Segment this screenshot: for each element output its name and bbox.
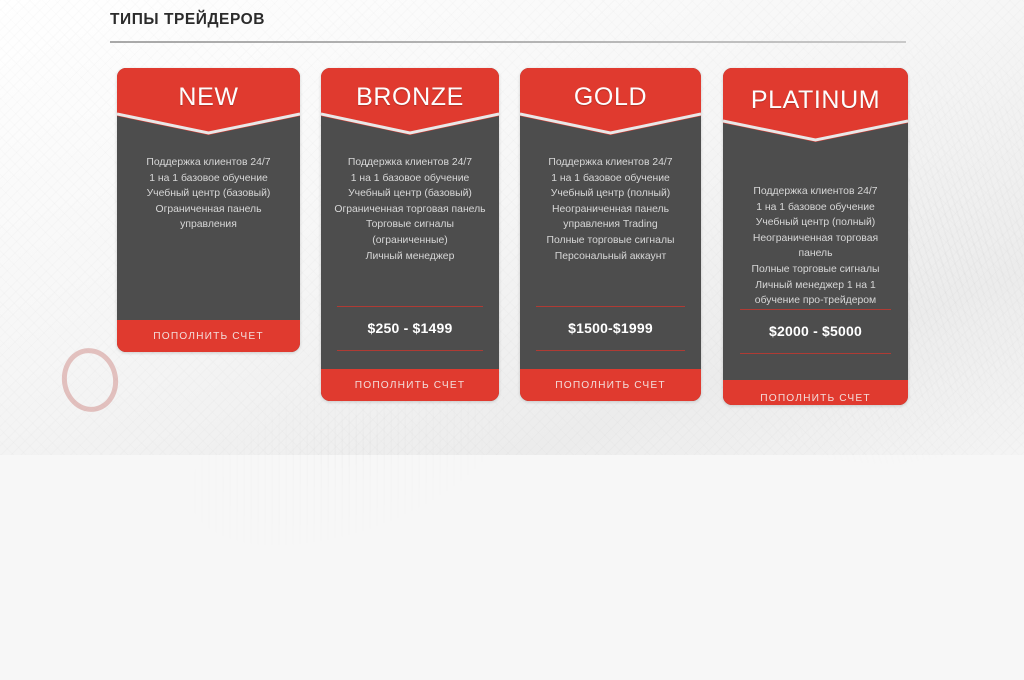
- feature-item: Поддержка клиентов 24/7: [321, 155, 499, 171]
- feature-item: управления Trading: [520, 217, 701, 233]
- price-rule-bottom: [536, 350, 684, 351]
- feature-list: Поддержка клиентов 24/71 на 1 базовое об…: [520, 155, 701, 264]
- card-title: GOLD: [574, 85, 647, 110]
- topup-account-button[interactable]: ПОПОЛНИТЬ СЧЕТ: [520, 369, 701, 401]
- feature-item: Торговые сигналы: [321, 217, 499, 233]
- topup-account-button[interactable]: ПОПОЛНИТЬ СЧЕТ: [723, 380, 908, 405]
- card-header-gold: GOLD: [520, 68, 701, 135]
- card-header-bronze: BRONZE: [321, 68, 499, 135]
- feature-item: Учебный центр (полный): [723, 215, 908, 231]
- feature-list: Поддержка клиентов 24/71 на 1 базовое об…: [321, 155, 499, 264]
- card-body-gold: Поддержка клиентов 24/71 на 1 базовое об…: [520, 135, 701, 369]
- card-title: BRONZE: [356, 85, 464, 110]
- feature-item: Неограниченная торговая: [723, 231, 908, 247]
- price-rule-top: [337, 306, 483, 307]
- feature-list: Поддержка клиентов 24/71 на 1 базовое об…: [723, 184, 908, 309]
- feature-item: 1 на 1 базовое обучение: [520, 171, 701, 187]
- title-divider: [110, 41, 906, 43]
- feature-item: Полные торговые сигналы: [723, 262, 908, 278]
- card-header-platinum: PLATINUM: [723, 68, 908, 142]
- feature-item: Учебный центр (базовый): [117, 186, 300, 202]
- feature-item: (ограниченные): [321, 233, 499, 249]
- page-header: ТИПЫ ТРЕЙДЕРОВ: [110, 10, 906, 43]
- card-body-new: Поддержка клиентов 24/71 на 1 базовое об…: [117, 135, 300, 320]
- feature-item: управления: [117, 217, 300, 233]
- price-rule-bottom: [740, 353, 892, 354]
- feature-item: 1 на 1 базовое обучение: [723, 200, 908, 216]
- card-header-new: NEW: [117, 68, 300, 135]
- price-value: $1500-$1999: [568, 307, 653, 350]
- feature-item: Поддержка клиентов 24/7: [117, 155, 300, 171]
- feature-item: Ограниченная панель: [117, 202, 300, 218]
- topup-account-button[interactable]: ПОПОЛНИТЬ СЧЕТ: [321, 369, 499, 401]
- price-rule-top: [536, 306, 684, 307]
- page-title: ТИПЫ ТРЕЙДЕРОВ: [110, 10, 906, 30]
- feature-item: Личный менеджер: [321, 249, 499, 265]
- price-rule-bottom: [337, 350, 483, 351]
- feature-item: Полные торговые сигналы: [520, 233, 701, 249]
- feature-list: Поддержка клиентов 24/71 на 1 базовое об…: [117, 155, 300, 233]
- feature-item: Персональный аккаунт: [520, 249, 701, 265]
- card-body-platinum: Поддержка клиентов 24/71 на 1 базовое об…: [723, 142, 908, 380]
- feature-item: Учебный центр (полный): [520, 186, 701, 202]
- card-title: NEW: [178, 85, 238, 110]
- price-block: $1500-$1999: [520, 306, 701, 351]
- chevron-notch-icon: [723, 116, 908, 142]
- feature-item: обучение про-трейдером: [723, 293, 908, 309]
- chevron-notch-icon: [117, 109, 300, 135]
- feature-item: панель: [723, 246, 908, 262]
- pricing-card-bronze[interactable]: BRONZEПоддержка клиентов 24/71 на 1 базо…: [321, 68, 499, 401]
- card-title: PLATINUM: [751, 88, 880, 113]
- pricing-card-gold[interactable]: GOLDПоддержка клиентов 24/71 на 1 базово…: [520, 68, 701, 401]
- feature-item: 1 на 1 базовое обучение: [321, 171, 499, 187]
- feature-item: Неограниченная панель: [520, 202, 701, 218]
- feature-item: Поддержка клиентов 24/7: [723, 184, 908, 200]
- feature-item: Ограниченная торговая панель: [321, 202, 499, 218]
- price-value: $2000 - $5000: [769, 310, 862, 353]
- feature-item: Поддержка клиентов 24/7: [520, 155, 701, 171]
- chevron-notch-icon: [321, 109, 499, 135]
- pricing-cards-container: NEWПоддержка клиентов 24/71 на 1 базовое…: [0, 0, 1024, 455]
- price-block: $250 - $1499: [321, 306, 499, 351]
- chevron-notch-icon: [520, 109, 701, 135]
- price-block: $2000 - $5000: [723, 309, 908, 354]
- feature-item: 1 на 1 базовое обучение: [117, 171, 300, 187]
- topup-account-button[interactable]: ПОПОЛНИТЬ СЧЕТ: [117, 320, 300, 352]
- feature-item: Учебный центр (базовый): [321, 186, 499, 202]
- feature-item: Личный менеджер 1 на 1: [723, 278, 908, 294]
- pricing-card-platinum[interactable]: PLATINUMПоддержка клиентов 24/71 на 1 ба…: [723, 68, 908, 405]
- price-rule-top: [740, 309, 892, 310]
- price-value: $250 - $1499: [368, 307, 453, 350]
- card-body-bronze: Поддержка клиентов 24/71 на 1 базовое об…: [321, 135, 499, 369]
- pricing-card-new[interactable]: NEWПоддержка клиентов 24/71 на 1 базовое…: [117, 68, 300, 352]
